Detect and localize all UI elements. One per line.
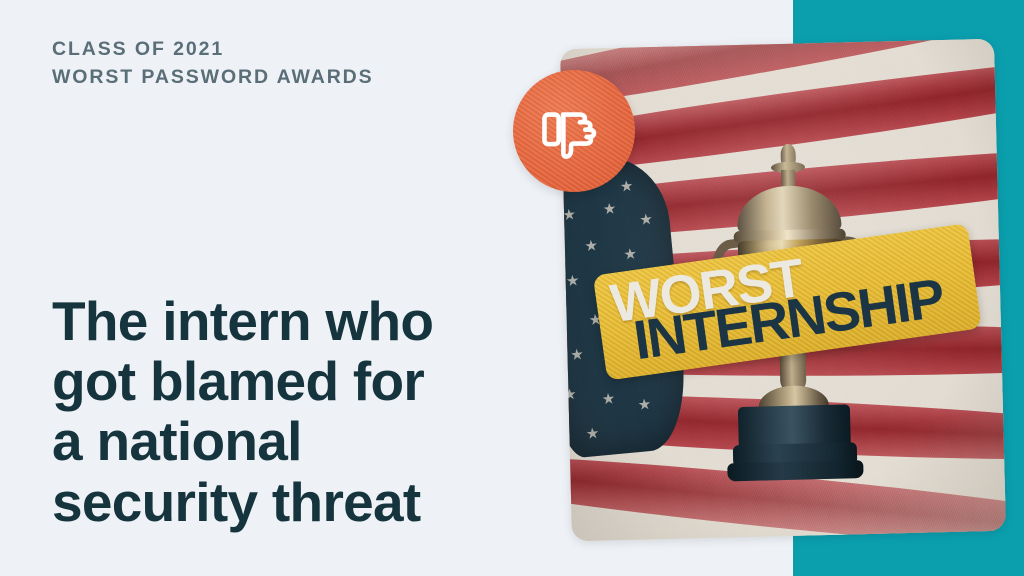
flag-star: ★ bbox=[603, 201, 618, 217]
flag-star: ★ bbox=[638, 397, 653, 413]
trophy-lid bbox=[736, 185, 841, 236]
page-title: The intern who got blamed for a national… bbox=[52, 291, 522, 532]
flag-star: ★ bbox=[623, 246, 638, 262]
flag-star: ★ bbox=[620, 178, 635, 194]
flag-star: ★ bbox=[560, 239, 561, 255]
trophy-base-foot bbox=[727, 460, 863, 481]
flag-star: ★ bbox=[562, 207, 577, 223]
flag-star: ★ bbox=[566, 273, 581, 289]
flag-star: ★ bbox=[586, 426, 601, 442]
flag-star: ★ bbox=[563, 386, 578, 402]
flag-star: ★ bbox=[560, 310, 565, 326]
flag-star: ★ bbox=[584, 238, 599, 254]
slide-canvas: CLASS OF 2021 WORST PASSWORD AWARDS The … bbox=[0, 0, 1024, 576]
thumbs-down-icon bbox=[539, 96, 609, 166]
eyebrow-label: CLASS OF 2021 WORST PASSWORD AWARDS bbox=[52, 36, 522, 92]
flag-star: ★ bbox=[601, 392, 616, 408]
text-column: CLASS OF 2021 WORST PASSWORD AWARDS The … bbox=[52, 36, 522, 536]
flag-star: ★ bbox=[570, 347, 585, 363]
flag-star: ★ bbox=[639, 212, 654, 228]
thumbs-down-badge bbox=[513, 70, 635, 192]
